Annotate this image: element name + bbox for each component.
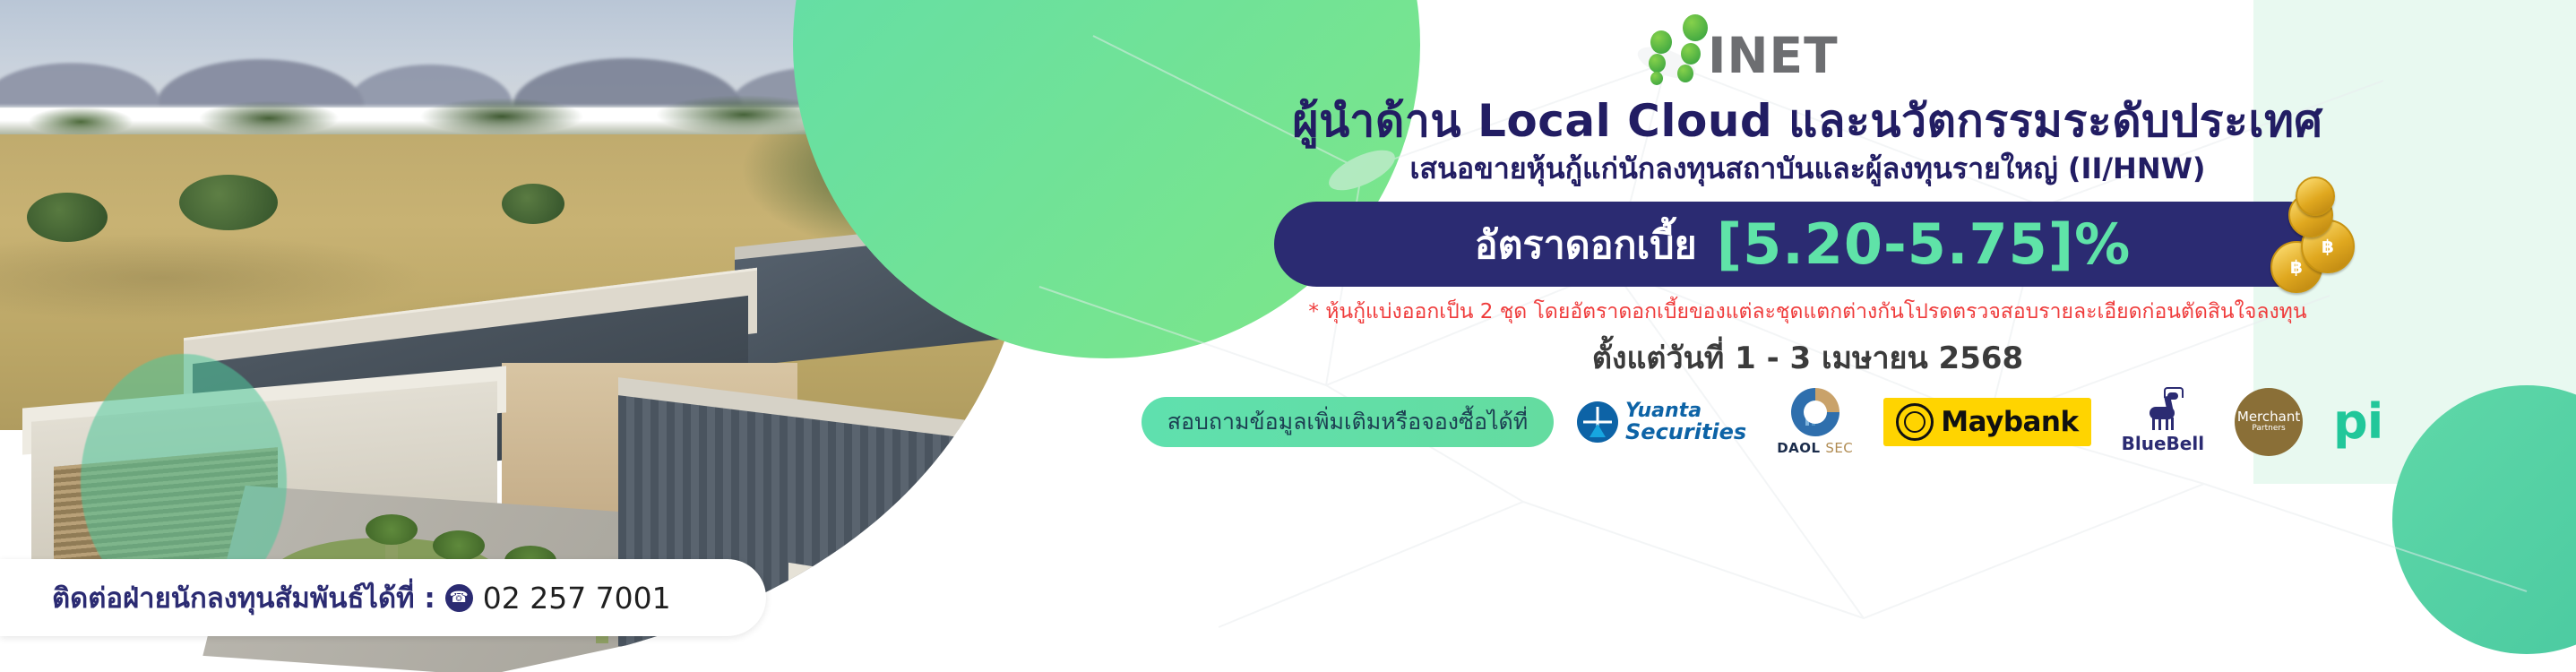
interest-rate-box: อัตราดอกเบี้ย [5.20-5.75]% ฿ ฿ [1274, 202, 2331, 287]
yuanta-line2: Securities [1625, 421, 1746, 443]
enquiry-cta-label: สอบถามข้อมูลเพิ่มเติมหรือจองซื้อได้ที่ [1167, 404, 1529, 440]
interest-rate-label: อัตราดอกเบี้ย [1475, 214, 1697, 275]
merchant-line2: Partners [2252, 424, 2285, 435]
pi-wordmark-icon: pi [2333, 402, 2382, 441]
tree [179, 175, 278, 230]
partner-logo-maybank[interactable]: Maybank [1883, 398, 2090, 446]
yuanta-line1: Yuanta [1625, 401, 1746, 421]
partner-logo-pi[interactable]: pi [2333, 402, 2382, 441]
phone-icon: ☎ [445, 584, 473, 612]
bluebell-label: BlueBell [2122, 433, 2204, 454]
inet-bond-offering-banner: INET ผู้นำด้าน Local Cloud และนวัตกรรมระ… [0, 0, 2576, 672]
yuanta-mark-icon [1577, 401, 1618, 443]
gold-coins-icon: ฿ ฿ [2262, 177, 2369, 311]
maybank-tiger-icon [1896, 403, 1934, 441]
tree [502, 184, 564, 224]
investor-relations-contact-card: ติดต่อฝ่ายนักลงทุนสัมพันธ์ได้ที่ : ☎ 02 … [0, 559, 766, 636]
offering-dates: ตั้งแต่วันที่ 1 - 3 เมษายน 2568 [1039, 333, 2576, 382]
partner-logo-daol[interactable]: DAOL SEC [1777, 388, 1853, 456]
daol-line2: SEC [1825, 440, 1853, 456]
inet-logo: INET [1631, 13, 1953, 84]
daol-line1: DAOL [1777, 440, 1820, 456]
enquiry-cta-button[interactable]: สอบถามข้อมูลเพิ่มเติมหรือจองซื้อได้ที่ [1142, 397, 1554, 447]
partner-logos-row: Yuanta Securities DAOL SEC Maybank BlueB… [1577, 385, 2545, 459]
merchant-line1: Merchant [2237, 410, 2300, 424]
inet-logo-text: INET [1708, 27, 1839, 84]
disclaimer-text: * หุ้นกู้แบ่งออกเป็น 2 ชุด โดยอัตราดอกเบ… [1039, 296, 2576, 328]
contact-phone-number[interactable]: 02 257 7001 [483, 581, 671, 616]
partner-logo-yuanta[interactable]: Yuanta Securities [1577, 401, 1746, 444]
tree [27, 193, 108, 242]
maybank-label: Maybank [1941, 406, 2078, 438]
partner-logo-merchant-partners[interactable]: Merchant Partners [2235, 388, 2303, 456]
partner-logo-bluebell[interactable]: BlueBell [2122, 391, 2204, 454]
interest-rate-value: [5.20-5.75]% [1717, 211, 2131, 277]
content-column: INET ผู้นำด้าน Local Cloud และนวัตกรรมระ… [1039, 0, 2576, 672]
daol-mark-icon [1791, 388, 1839, 436]
contact-label: ติดต่อฝ่ายนักลงทุนสัมพันธ์ได้ที่ : [52, 575, 435, 620]
bluebell-deer-icon [2144, 391, 2182, 430]
